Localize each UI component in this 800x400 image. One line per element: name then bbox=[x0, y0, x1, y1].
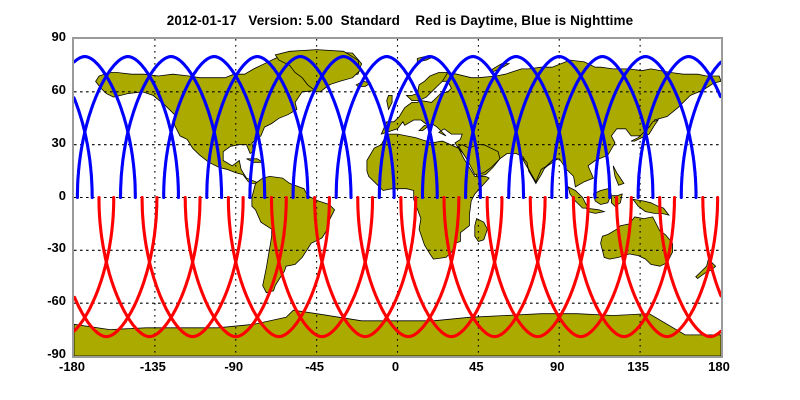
x-tick-label: -45 bbox=[285, 359, 345, 374]
x-tick-label: 180 bbox=[689, 359, 749, 374]
satellite-ground-track-figure: 2012-01-17 Version: 5.00 Standard Red is… bbox=[0, 0, 800, 400]
x-tick-label: 135 bbox=[608, 359, 668, 374]
x-tick-label: -135 bbox=[123, 359, 183, 374]
x-tick-label: 90 bbox=[527, 359, 587, 374]
x-tick-label: -180 bbox=[42, 359, 102, 374]
x-axis-labels: -180-135-90-4504590135180 bbox=[0, 0, 800, 400]
x-tick-label: 45 bbox=[446, 359, 506, 374]
x-tick-label: -90 bbox=[204, 359, 264, 374]
x-tick-label: 0 bbox=[366, 359, 426, 374]
